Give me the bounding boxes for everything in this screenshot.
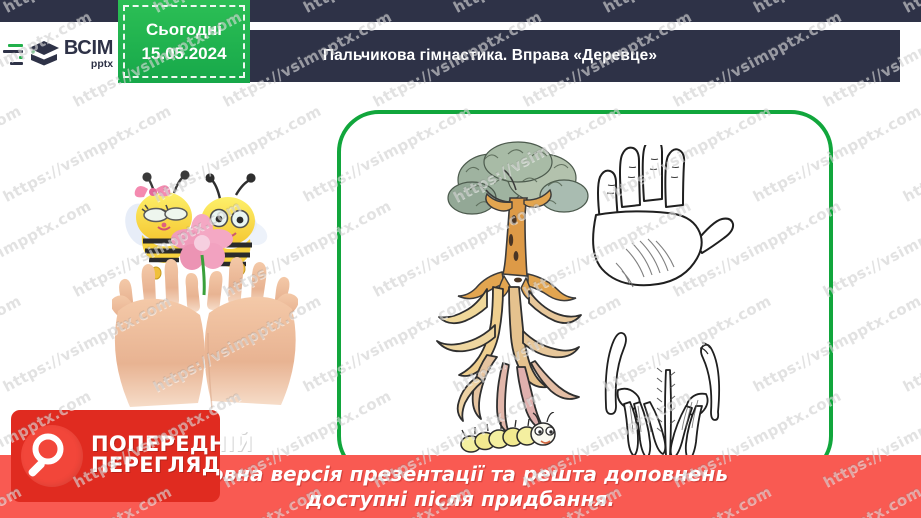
magnifier-icon: [21, 425, 83, 487]
caterpillar-illustration: [455, 412, 575, 460]
preview-badge-line1: ПОПЕРЕДНІЙ: [91, 434, 253, 455]
date-badge-label: Сьогодні: [146, 20, 222, 40]
preview-badge-labels: ПОПЕРЕДНІЙ ПЕРЕГЛЯД: [91, 434, 253, 479]
preview-badge: ПОПЕРЕДНІЙ ПЕРЕГЛЯД: [11, 410, 220, 502]
bottom-banner-line1: Повна версія презентації та решта доповн…: [193, 462, 728, 486]
preview-badge-line2: ПЕРЕГЛЯД: [91, 455, 253, 476]
logo-panel[interactable]: ВСІМ pptx: [0, 22, 118, 86]
logo-suffix: pptx: [64, 59, 113, 70]
logo-brand: ВСІМ: [64, 38, 113, 58]
watermark-text: https://vsimpptx.com: [0, 197, 94, 301]
page-title: Пальчикова гімнастика. Вправа «Деревце»: [243, 47, 657, 65]
open-hand-illustration: [570, 145, 735, 300]
watermark-text: https://vsimpptx.com: [820, 197, 921, 301]
date-badge-date: 15.05.2024: [141, 44, 226, 64]
bottom-banner-line2: доступні після придбання.: [306, 487, 615, 511]
hands-roots-illustration: [600, 310, 740, 460]
graduation-cap-icon: [27, 39, 61, 69]
bees-and-hands-illustration: [112, 165, 298, 410]
logo-text: ВСІМ pptx: [64, 38, 113, 70]
watermark-text: https://vsimpptx.com: [0, 102, 24, 206]
watermark-text: https://vsimpptx.com: [900, 292, 921, 396]
date-badge: Сьогодні 15.05.2024: [118, 0, 250, 83]
watermark-text: https://vsimpptx.com: [900, 102, 921, 206]
logo: ВСІМ pptx: [3, 38, 113, 70]
speed-lines-icon: [3, 44, 23, 65]
watermark-text: https://vsimpptx.com: [0, 292, 24, 396]
slide-root: Пальчикова гімнастика. Вправа «Деревце» …: [0, 0, 921, 518]
